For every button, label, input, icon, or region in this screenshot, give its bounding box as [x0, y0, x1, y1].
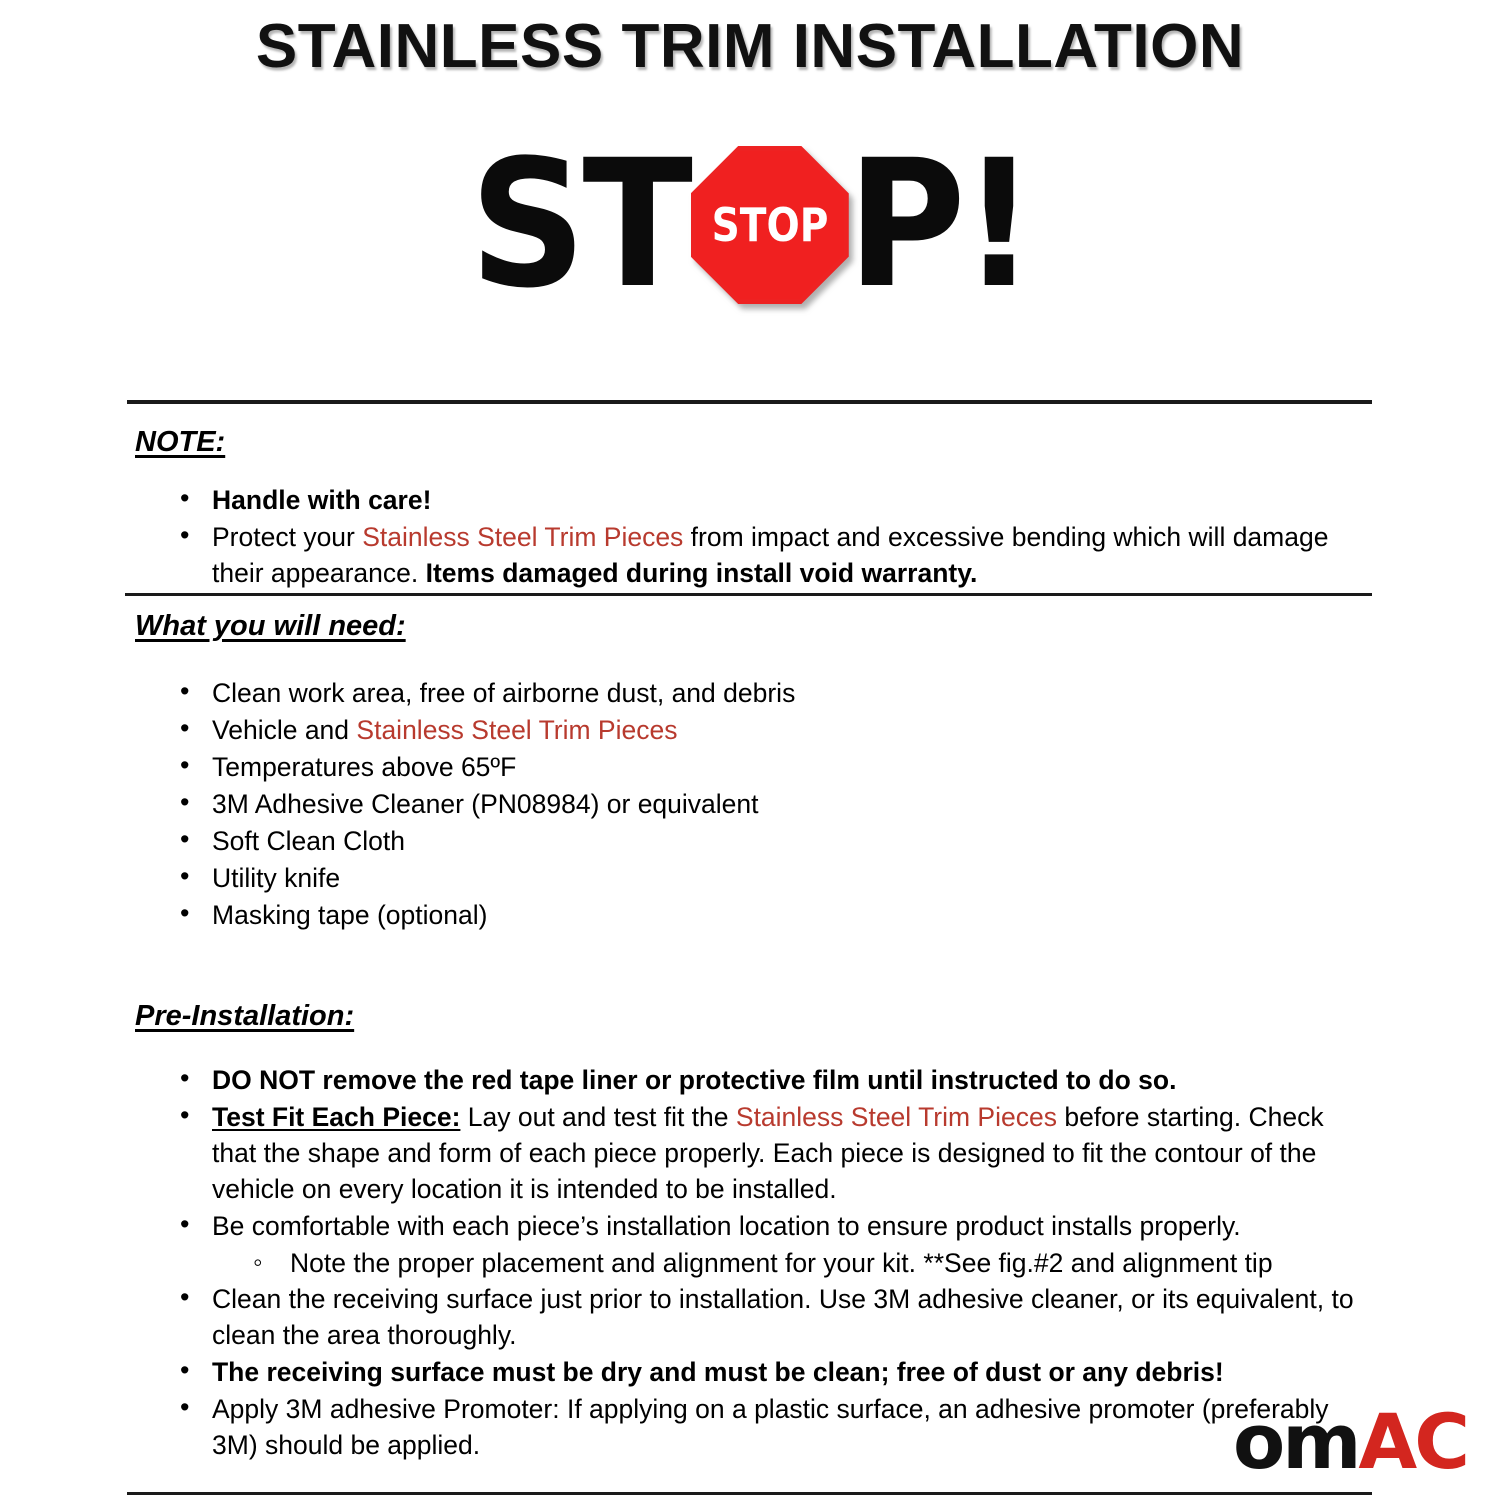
- divider-top: [127, 400, 1372, 404]
- list-item: Soft Clean Cloth: [127, 823, 1372, 859]
- list-item: Be comfortable with each piece’s install…: [127, 1208, 1372, 1244]
- omac-logo-ac: AC: [1358, 1397, 1467, 1486]
- section-heading-note: NOTE:: [135, 426, 225, 459]
- omac-logo: omAC: [1233, 1404, 1467, 1480]
- list-item: 3M Adhesive Cleaner (PN08984) or equival…: [127, 786, 1372, 822]
- stop-sign-label: STOP: [703, 146, 837, 304]
- text-run: Be comfortable with each piece’s install…: [212, 1211, 1241, 1241]
- text-run: Utility knife: [212, 863, 340, 893]
- document-body: NOTE: Handle with care!Protect your Stai…: [127, 400, 1372, 404]
- list-item: Vehicle and Stainless Steel Trim Pieces: [127, 712, 1372, 748]
- text-run: Test Fit Each Piece:: [212, 1102, 460, 1132]
- omac-logo-m: m: [1282, 1397, 1358, 1486]
- text-run: Temperatures above 65ºF: [212, 752, 516, 782]
- list-item: Clean the receiving surface just prior t…: [127, 1281, 1372, 1353]
- text-run: Stainless Steel Trim Pieces: [356, 715, 677, 745]
- text-run: Lay out and test fit the: [460, 1102, 735, 1132]
- pre-installation-list: DO NOT remove the red tape liner or prot…: [127, 1062, 1372, 1463]
- text-run: Masking tape (optional): [212, 900, 487, 930]
- note-list: Handle with care!Protect your Stainless …: [127, 482, 1372, 591]
- divider-bottom: [127, 1492, 1372, 1495]
- text-run: The receiving surface must be dry and mu…: [212, 1357, 1224, 1387]
- list-item: Protect your Stainless Steel Trim Pieces…: [127, 519, 1372, 591]
- stop-right-letters: P!: [847, 137, 1032, 313]
- list-item: Utility knife: [127, 860, 1372, 896]
- list-item: Test Fit Each Piece: Lay out and test fi…: [127, 1099, 1372, 1207]
- divider-after-note: [125, 593, 1372, 596]
- omac-logo-o: o: [1233, 1397, 1282, 1486]
- stop-left-letters: ST: [470, 137, 690, 313]
- stop-sign-icon: STOP: [691, 146, 849, 304]
- text-run: Protect your: [212, 522, 362, 552]
- page-title: STAINLESS TRIM INSTALLATION: [0, 0, 1500, 78]
- text-run: Clean work area, free of airborne dust, …: [212, 678, 795, 708]
- list-item: Temperatures above 65ºF: [127, 749, 1372, 785]
- text-run: Items damaged during install void warran…: [426, 558, 978, 588]
- sub-list: Note the proper placement and alignment …: [127, 1245, 1372, 1281]
- sub-list-item: Note the proper placement and alignment …: [127, 1245, 1372, 1281]
- text-run: Handle with care!: [212, 485, 431, 515]
- list-item: Clean work area, free of airborne dust, …: [127, 675, 1372, 711]
- list-item: Masking tape (optional): [127, 897, 1372, 933]
- list-item: The receiving surface must be dry and mu…: [127, 1354, 1372, 1390]
- text-run: Note the proper placement and alignment …: [290, 1248, 1273, 1278]
- text-run: DO NOT remove the red tape liner or prot…: [212, 1065, 1176, 1095]
- list-item: Apply 3M adhesive Promoter: If applying …: [127, 1391, 1372, 1463]
- what-you-need-list: Clean work area, free of airborne dust, …: [127, 675, 1372, 933]
- text-run: Apply 3M adhesive Promoter: If applying …: [212, 1394, 1329, 1460]
- text-run: Stainless Steel Trim Pieces: [736, 1102, 1057, 1132]
- text-run: Clean the receiving surface just prior t…: [212, 1284, 1354, 1350]
- text-run: Soft Clean Cloth: [212, 826, 405, 856]
- section-heading-what-you-need: What you will need:: [135, 610, 406, 643]
- text-run: Stainless Steel Trim Pieces: [362, 522, 683, 552]
- text-run: 3M Adhesive Cleaner (PN08984) or equival…: [212, 789, 759, 819]
- list-item: DO NOT remove the red tape liner or prot…: [127, 1062, 1372, 1098]
- section-heading-pre-installation: Pre-Installation:: [135, 1000, 354, 1033]
- stop-graphic: ST STOP P!: [0, 130, 1500, 320]
- list-item: Handle with care!: [127, 482, 1372, 518]
- text-run: Vehicle and: [212, 715, 356, 745]
